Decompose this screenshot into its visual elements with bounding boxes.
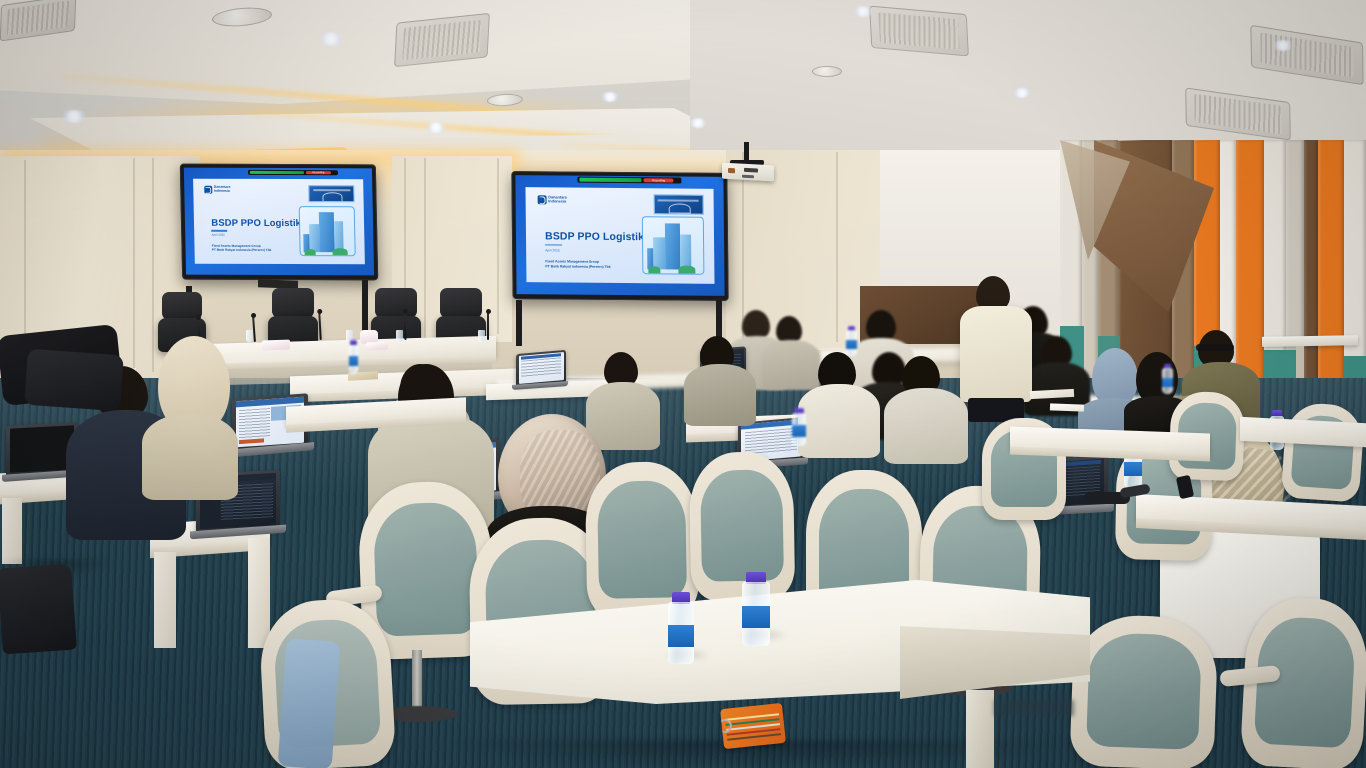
slide-left-logo: Danantara Indonesia [204, 185, 231, 193]
slide-left-illustration [299, 206, 356, 256]
slide-right-logo: Danantara Indonesia [537, 195, 567, 204]
person-mid-1-torso [586, 382, 660, 450]
bottle-far-2[interactable] [1162, 364, 1173, 394]
display-right-screen: Danantara Indonesia BSDP PPO Logistik Ap… [515, 175, 724, 296]
jacket-on-chair [278, 638, 341, 768]
display-right[interactable]: Danantara Indonesia BSDP PPO Logistik Ap… [511, 171, 728, 301]
danantara-logo-icon [204, 185, 212, 193]
danantara-logo-icon-right [537, 195, 546, 204]
ac-vent-center [869, 6, 969, 57]
eyeglasses [1196, 344, 1234, 351]
slide-right-title: BSDP PPO Logistik [545, 230, 644, 243]
recording-badge-left[interactable]: Recording [305, 171, 331, 174]
present-progress-left [250, 171, 304, 174]
water-glass-1 [246, 330, 253, 342]
present-progress-right [580, 178, 642, 182]
pouch-keyring [720, 719, 732, 734]
slide-right-subtitle: Fixed Assets Management Group PT Bank Ra… [545, 260, 610, 270]
wall-seam-2 [133, 158, 135, 374]
wall-shelf-right [1262, 335, 1358, 347]
microphone-5 [487, 312, 489, 340]
present-toolbar-left[interactable]: Recording [248, 170, 339, 176]
downlight-4 [600, 92, 620, 102]
exec-chair-2-headrest[interactable] [272, 288, 314, 318]
foreground-desk-underside [994, 700, 1074, 716]
laptop-mid-1-screen [519, 352, 564, 384]
chair-far-right-2[interactable] [1281, 401, 1366, 502]
bottle-far-1[interactable] [846, 326, 857, 356]
downlight-6 [852, 6, 874, 17]
slide-left-org2: PT Bank Rakyat Indonesia (Persero) Tbk [212, 248, 272, 252]
bottle-fg-2-label [742, 606, 770, 628]
logo-line-2-right: Indonesia [548, 199, 566, 203]
wall-seam-8 [836, 152, 838, 342]
downlight-5 [688, 118, 708, 128]
slide-left-subtitle: Fixed Assets Management Group PT Bank Ra… [212, 243, 272, 252]
wall-seam-5 [424, 158, 426, 340]
person-far-2-torso [762, 340, 820, 390]
desk-near-left-leg [2, 498, 22, 564]
laptop-near-left-screen [10, 425, 75, 473]
downlight-8 [1272, 40, 1294, 51]
downlight-7 [1012, 88, 1032, 98]
photo-canvas: Danantara Indonesia BSDP PPO Logistik Ap… [0, 0, 1366, 768]
logo-line-2: Indonesia [214, 188, 230, 192]
downlight-2 [60, 110, 88, 123]
slide-right-illustration [642, 217, 704, 275]
slide-right-org1: Fixed Assets Management Group [545, 260, 599, 264]
display-left[interactable]: Danantara Indonesia BSDP PPO Logistik Ap… [180, 164, 378, 281]
person-near-2-torso [142, 414, 238, 500]
slide-right-date: April 2025 [545, 248, 559, 252]
chair-fg-1-post [412, 650, 422, 714]
slide-left-rule [211, 230, 226, 232]
projector [722, 163, 774, 182]
slide-left-thumbnail [308, 185, 354, 203]
bottle-fg-1[interactable] [668, 592, 694, 664]
display-right-stand-l [516, 300, 522, 346]
exec-chair-4-headrest[interactable] [440, 288, 482, 318]
water-glass-3 [396, 330, 403, 342]
downlight-3 [425, 122, 447, 133]
slide-right-org2: PT Bank Rakyat Indonesia (Persero) Tbk [545, 265, 610, 270]
slide-right: Danantara Indonesia BSDP PPO Logistik Ap… [526, 187, 714, 284]
display-left-screen: Danantara Indonesia BSDP PPO Logistik Ap… [184, 168, 374, 276]
backpack-floor-left [0, 564, 77, 655]
person-mid-4-torso [884, 388, 968, 464]
orange-pouch[interactable] [720, 703, 786, 749]
wall-seam-3 [152, 158, 154, 372]
slide-right-rule [545, 244, 562, 246]
smoke-detector-3 [812, 66, 842, 77]
foreground-desk-leg [966, 690, 994, 768]
bottle-fg-1-label [668, 625, 694, 647]
projector-pole [744, 142, 749, 162]
slide-left-title: BSDP PPO Logistik [211, 218, 301, 229]
chair-fg-7[interactable] [1069, 614, 1218, 768]
coat-left-2 [24, 349, 124, 412]
present-toolbar-right[interactable]: Recording [578, 177, 682, 184]
water-glass-4 [478, 330, 485, 342]
recording-badge-right[interactable]: Recording [644, 179, 674, 183]
bottle-mid-1[interactable] [792, 408, 806, 446]
papers-right-2 [1050, 403, 1084, 411]
bottle-fg-2[interactable] [742, 572, 770, 646]
person-hijab-blue-head [1092, 348, 1138, 404]
exec-chair-3-headrest[interactable] [375, 288, 417, 318]
slide-right-thumbnail [653, 194, 704, 215]
person-mid-3-torso [798, 384, 880, 458]
bottle-front-desk [349, 340, 358, 374]
slide-left-date: April 2025 [212, 233, 226, 237]
slide-left: Danantara Indonesia BSDP PPO Logistik Ap… [193, 178, 364, 264]
display-right-stand-r [716, 298, 722, 338]
wall-seam-6 [497, 158, 499, 334]
standing-person-torso [960, 306, 1032, 402]
tissue-box-1 [262, 340, 290, 351]
desk-near-left2-leg-2 [248, 538, 270, 648]
downlight-1 [318, 32, 344, 46]
tissue-box-3 [366, 342, 388, 351]
desk-near-left2-leg-1 [154, 552, 176, 648]
person-mid-2-torso [684, 364, 756, 426]
